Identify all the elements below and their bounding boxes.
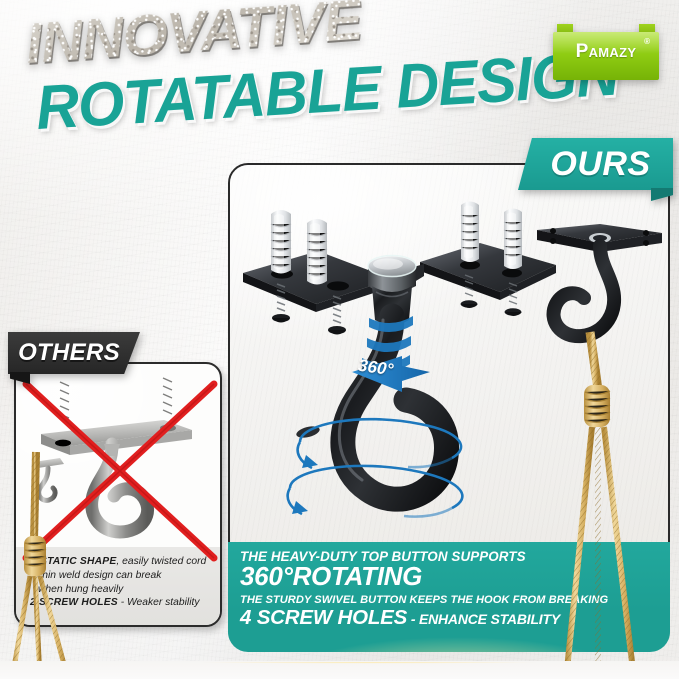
headline-block: INNOVATIVE ROTATABLE DESIGN [0, 0, 540, 150]
others-badge: OTHERS [8, 332, 140, 374]
others-card: STATIC SHAPE, easily twisted cord Thin w… [14, 362, 222, 627]
others-caption-line-2: Thin weld design can break [24, 569, 214, 583]
others-caption-line-4: 2 SCREW HOLES - Weaker stability [24, 596, 214, 610]
infographic-stage: INNOVATIVE ROTATABLE DESIGN Pamazy ® [0, 0, 679, 679]
ours-caption-line-3: THE STURDY SWIVEL BUTTON KEEPS THE HOOK … [240, 594, 608, 606]
red-cross-icon [20, 378, 220, 564]
ours-caption-line-2: 360°ROTATING [240, 563, 608, 590]
trademark-symbol: ® [644, 37, 650, 46]
others-badge-label: OTHERS [8, 332, 140, 374]
ours-card-sheen [230, 165, 668, 579]
bottom-strip [0, 661, 679, 679]
ours-caption-line-4-small: - ENHANCE STABILITY [407, 611, 560, 627]
others-caption-line-4-rest: - Weaker stability [118, 597, 200, 608]
ours-badge: OURS [518, 138, 673, 190]
ours-card [228, 163, 670, 581]
ours-caption-line-4-big: 4 SCREW HOLES [240, 606, 407, 629]
others-caption-line-4-bold: 2 SCREW HOLES [30, 597, 118, 608]
others-caption-line-3: when hung heavily [24, 583, 214, 597]
ours-badge-label: OURS [518, 138, 673, 190]
ours-caption-panel: THE HEAVY-DUTY TOP BUTTON SUPPORTS 360°R… [228, 542, 670, 652]
brand-name: Pamazy [553, 24, 659, 80]
brand-logo: Pamazy ® [553, 24, 659, 80]
ours-caption-text: THE HEAVY-DUTY TOP BUTTON SUPPORTS 360°R… [240, 549, 608, 630]
ours-caption-line-4: 4 SCREW HOLES - ENHANCE STABILITY [240, 607, 608, 630]
